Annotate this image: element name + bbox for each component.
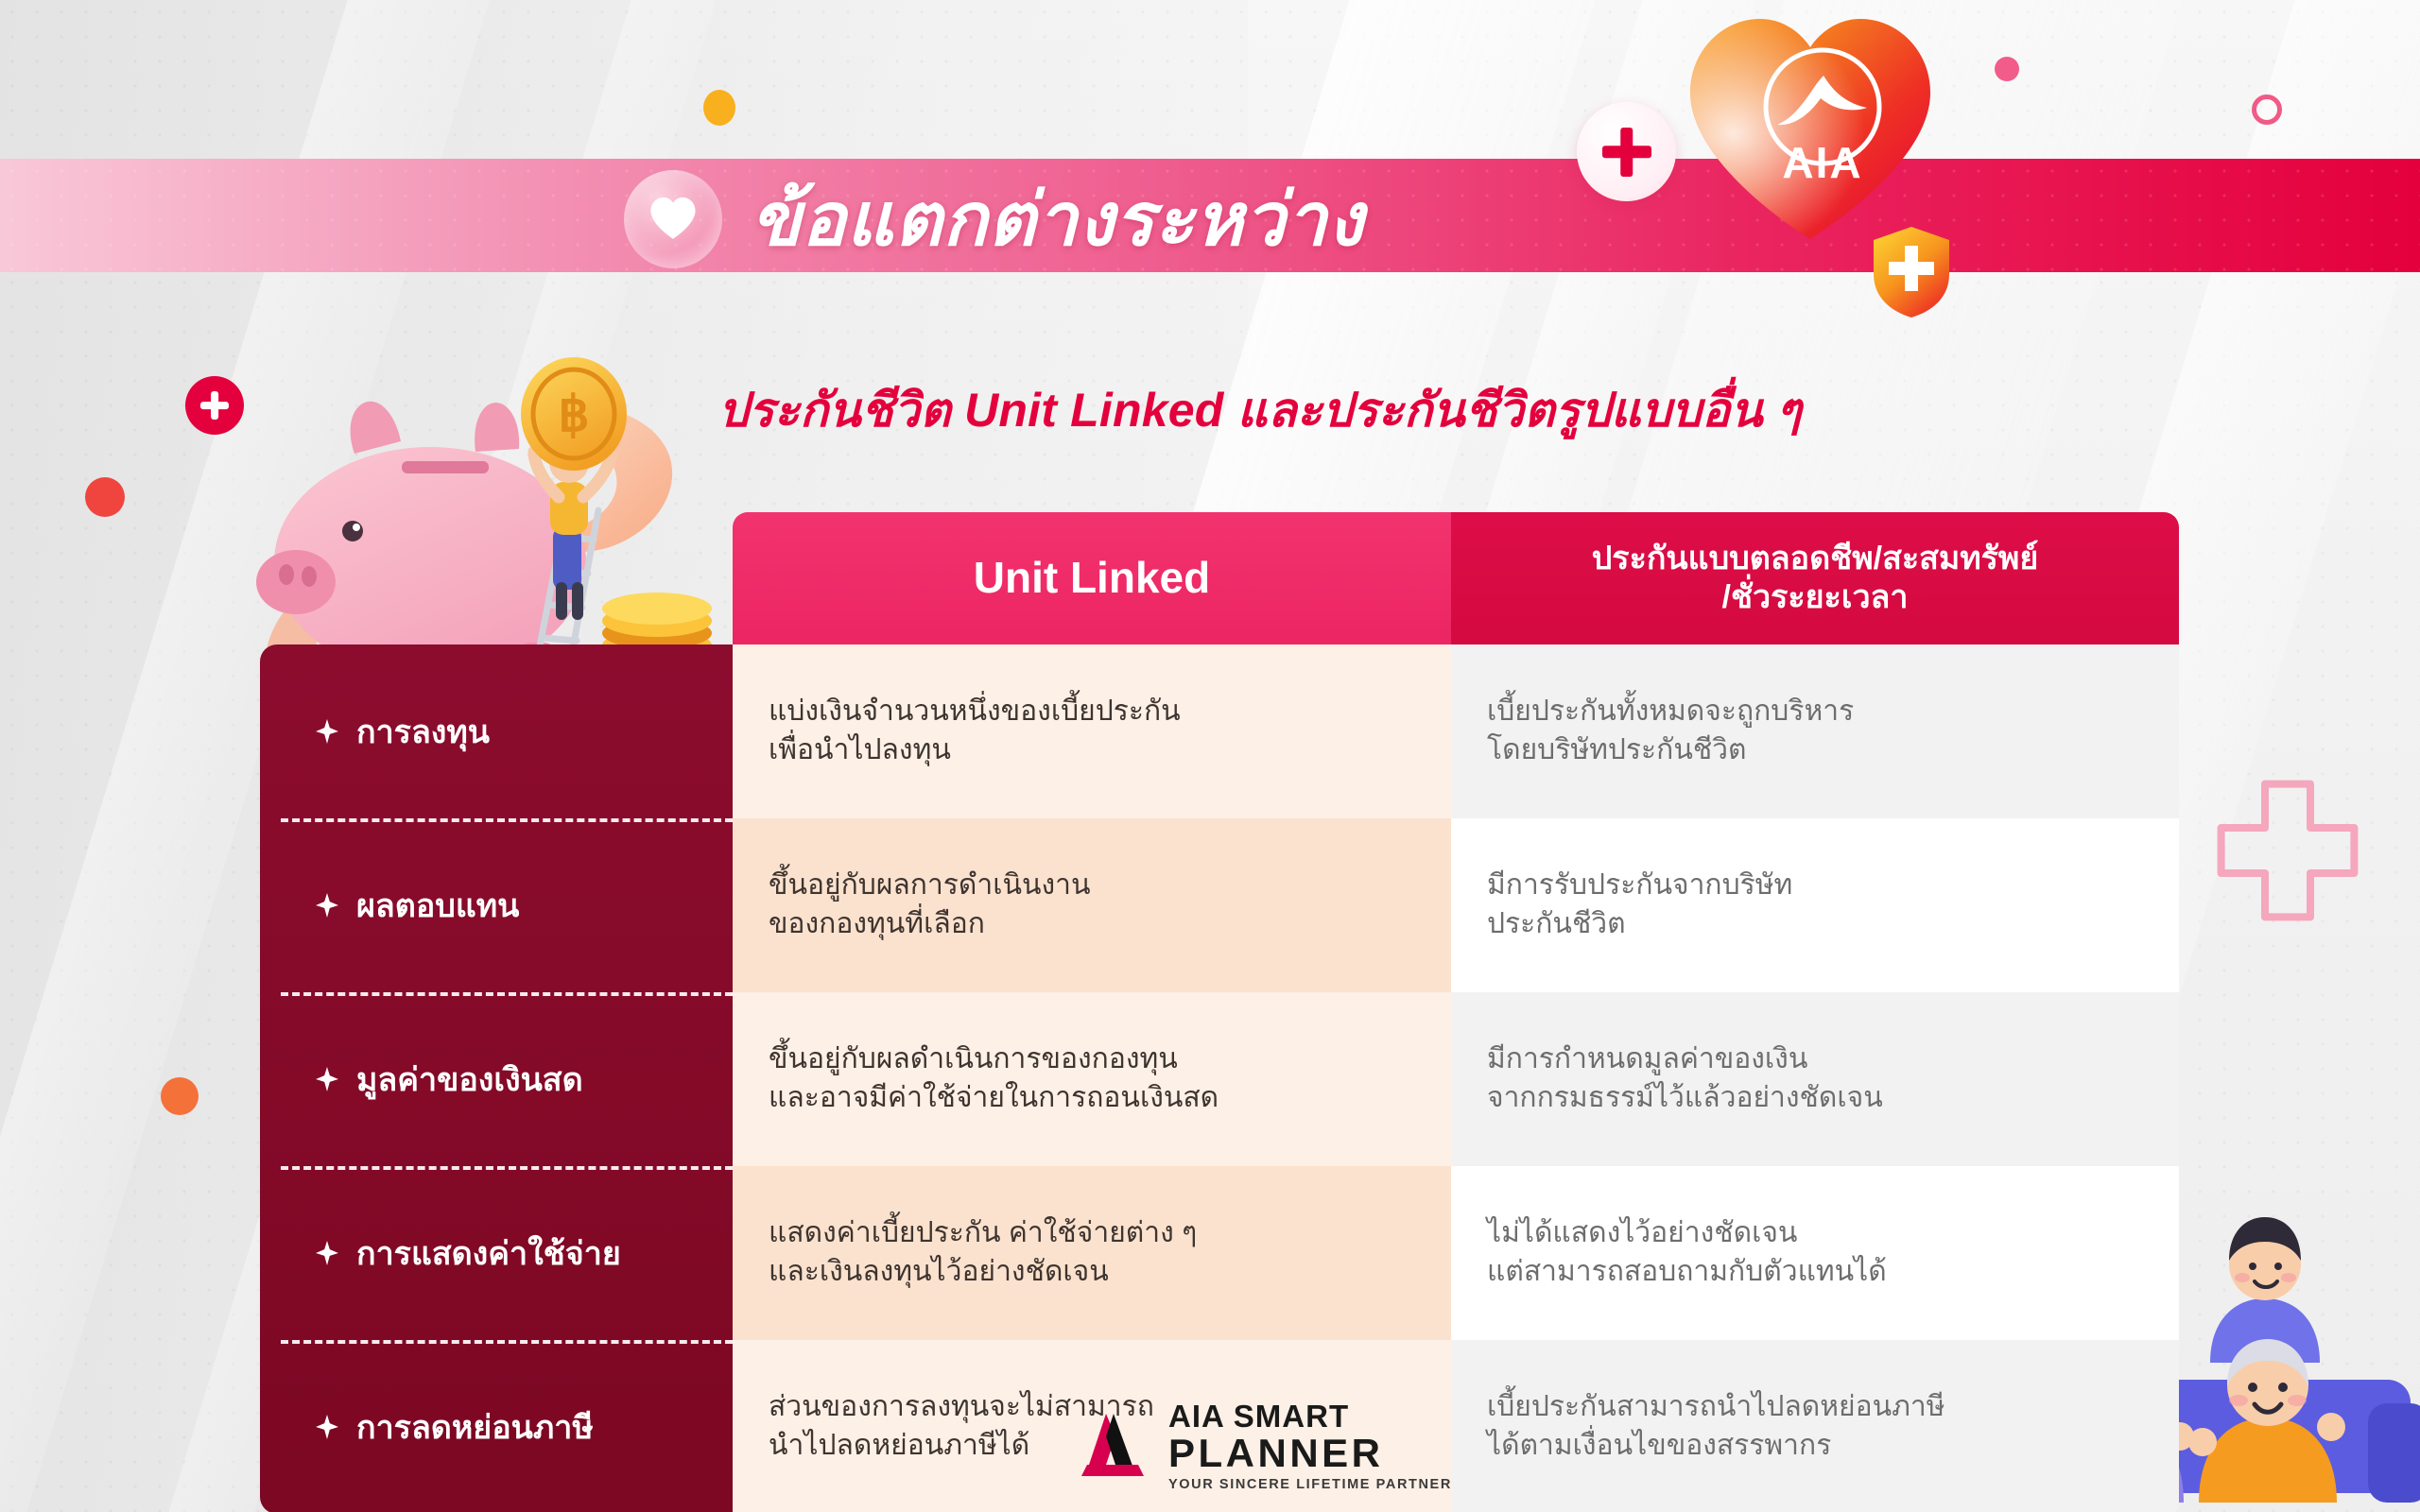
other-insurance-column: เบี้ยประกันทั้งหมดจะถูกบริหาร โดยบริษัทป… [1451, 644, 2179, 1512]
column-header-other-line1: ประกันแบบตลอดชีพ/สะสมทรัพย์ [1592, 540, 2039, 578]
table-body: การลงทุน ผลตอบแทน มูลค่าของเงินสด การแสด… [260, 644, 2179, 1512]
table-cell-other: เบี้ยประกันสามารถนำไปลดหย่อนภาษี ได้ตามเ… [1451, 1340, 2179, 1512]
aia-heart-logo: AIA [1683, 9, 1938, 246]
table-cell-other: มีการรับประกันจากบริษัท ประกันชีวิต [1451, 818, 2179, 992]
heart-icon [648, 193, 698, 247]
sparkle-icon [315, 893, 339, 918]
table-cell-other: มีการกำหนดมูลค่าของเงิน จากกรมธรรม์ไว้แล… [1451, 992, 2179, 1166]
decor-plus-outline [2212, 775, 2363, 926]
footer-logo-text: AIA SMART PLANNER YOUR SINCERE LIFETIME … [1168, 1400, 1452, 1492]
decor-plus-red [185, 376, 244, 435]
header-title-row: ข้อแตกต่างระหว่าง [624, 170, 1364, 268]
plus-badge-icon [1577, 102, 1676, 201]
footer-tagline: YOUR SINCERE LIFETIME PARTNER [1168, 1478, 1452, 1492]
row-label-text: การลงทุน [356, 706, 490, 757]
cell-line: และเงินลงทุนไว้อย่างชัดเจน [769, 1253, 1415, 1292]
column-header-other-line2: /ชั่วระยะเวลา [1592, 578, 2039, 617]
decor-dot-yellow [703, 90, 735, 126]
sparkle-icon [315, 1241, 339, 1265]
decor-dot-pink [2252, 94, 2282, 125]
decor-dot-pink [1995, 57, 2019, 81]
table-row-label: การลดหย่อนภาษี [260, 1340, 733, 1512]
row-label-text: ผลตอบแทน [356, 880, 519, 931]
table-cell-unit-linked: ขึ้นอยู่กับผลการดำเนินงาน ของกองทุนที่เล… [733, 818, 1451, 992]
cell-line: ขึ้นอยู่กับผลการดำเนินงาน [769, 867, 1415, 905]
row-label-text: การแสดงค่าใช้จ่าย [356, 1228, 621, 1279]
table-row-label: การแสดงค่าใช้จ่าย [260, 1166, 733, 1340]
row-label-text: การลดหย่อนภาษี [356, 1401, 594, 1452]
cell-line: และอาจมีค่าใช้จ่ายในการถอนเงินสด [769, 1079, 1415, 1118]
cell-line: แต่สามารถสอบถามกับตัวแทนได้ [1487, 1253, 2143, 1292]
cell-line: แสดงค่าเบี้ยประกัน ค่าใช้จ่ายต่าง ๆ [769, 1214, 1415, 1253]
row-label-text: มูลค่าของเงินสด [356, 1054, 583, 1105]
plus-icon [1602, 128, 1651, 177]
table-cell-unit-linked: แบ่งเงินจำนวนหนึ่งของเบี้ยประกัน เพื่อนำ… [733, 644, 1451, 818]
cell-line: โดยบริษัทประกันชีวิต [1487, 731, 2143, 770]
cell-line: เบี้ยประกันทั้งหมดจะถูกบริหาร [1487, 693, 2143, 731]
table-cell-unit-linked: ขึ้นอยู่กับผลดำเนินการของกองทุน และอาจมี… [733, 992, 1451, 1166]
table-header-spacer [260, 512, 733, 644]
table-cell-unit-linked: แสดงค่าเบี้ยประกัน ค่าใช้จ่ายต่าง ๆ และเ… [733, 1166, 1451, 1340]
cell-line: ขึ้นอยู่กับผลดำเนินการของกองทุน [769, 1040, 1415, 1079]
cell-line: มีการกำหนดมูลค่าของเงิน [1487, 1040, 2143, 1079]
cell-line: เบี้ยประกันสามารถนำไปลดหย่อนภาษี [1487, 1388, 2143, 1427]
comparison-table: Unit Linked ประกันแบบตลอดชีพ/สะสมทรัพย์ … [260, 512, 2179, 1512]
column-header-other-insurance: ประกันแบบตลอดชีพ/สะสมทรัพย์ /ชั่วระยะเวล… [1451, 512, 2179, 644]
table-row-label: การลงทุน [260, 644, 733, 818]
page-title: ข้อแตกต่างระหว่าง [751, 182, 1364, 256]
plus-icon [200, 391, 229, 420]
page-subtitle: ประกันชีวิต Unit Linked และประกันชีวิตรู… [718, 373, 1802, 448]
footer-logo-line1: AIA SMART [1168, 1400, 1452, 1432]
table-row-label: มูลค่าของเงินสด [260, 992, 733, 1166]
svg-text:฿: ฿ [558, 387, 589, 442]
shield-plus-badge-icon [1868, 225, 1955, 319]
cell-line: มีการรับประกันจากบริษัท [1487, 867, 2143, 905]
svg-text:AIA: AIA [1782, 138, 1862, 187]
table-cell-other: เบี้ยประกันทั้งหมดจะถูกบริหาร โดยบริษัทป… [1451, 644, 2179, 818]
unit-linked-column: แบ่งเงินจำนวนหนึ่งของเบี้ยประกัน เพื่อนำ… [733, 644, 1451, 1512]
decor-dot-orange [161, 1077, 199, 1115]
table-header-row: Unit Linked ประกันแบบตลอดชีพ/สะสมทรัพย์ … [260, 512, 2179, 644]
cell-line: ได้ตามเงื่อนไขของสรรพากร [1487, 1427, 2143, 1466]
footer-logo-line2: PLANNER [1168, 1434, 1452, 1473]
sparkle-icon [315, 1415, 339, 1439]
cell-line: ไม่ได้แสดงไว้อย่างชัดเจน [1487, 1214, 2143, 1253]
column-header-unit-linked: Unit Linked [733, 512, 1451, 644]
footer-logo: AIA SMART PLANNER YOUR SINCERE LIFETIME … [1078, 1400, 1452, 1492]
row-label-column: การลงทุน ผลตอบแทน มูลค่าของเงินสด การแสด… [260, 644, 733, 1512]
cell-line: เพื่อนำไปลงทุน [769, 731, 1415, 770]
cell-line: จากกรมธรรม์ไว้แล้วอย่างชัดเจน [1487, 1079, 2143, 1118]
cell-line: ประกันชีวิต [1487, 905, 2143, 944]
decor-dot-red [85, 477, 125, 517]
table-cell-other: ไม่ได้แสดงไว้อย่างชัดเจน แต่สามารถสอบถาม… [1451, 1166, 2179, 1340]
cell-line: ของกองทุนที่เลือก [769, 905, 1415, 944]
sparkle-icon [315, 1067, 339, 1091]
cell-line: แบ่งเงินจำนวนหนึ่งของเบี้ยประกัน [769, 693, 1415, 731]
heart-badge [624, 170, 722, 268]
aia-triangle-mark-icon [1078, 1412, 1151, 1480]
sparkle-icon [315, 719, 339, 744]
table-row-label: ผลตอบแทน [260, 818, 733, 992]
